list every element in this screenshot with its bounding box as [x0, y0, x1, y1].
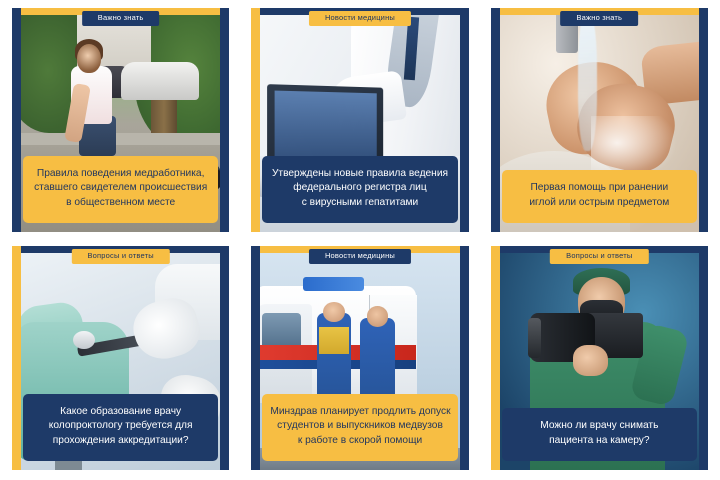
card-3[interactable]: Важно знать Первая помощь при ранении иг… [491, 8, 708, 232]
card-grid: Важно знать Правила поведения медработни… [0, 0, 720, 480]
card-1-caption-line-1: Правила поведения медработника, [31, 167, 210, 182]
card-4[interactable]: Вопросы и ответы Какое образование врачу… [12, 246, 229, 470]
card-2-caption[interactable]: Утверждены новые правила ведения федерал… [262, 156, 457, 223]
card-2-caption-line-3: с вирусными гепатитами [270, 196, 449, 211]
card-2-caption-line-1: Утверждены новые правила ведения [270, 167, 449, 182]
card-3-caption[interactable]: Первая помощь при ранении иглой или остр… [502, 170, 697, 223]
card-4-caption-line-1: Какое образование врачу [31, 405, 210, 420]
card-1-accent-left [12, 8, 21, 232]
card-4-accent-left [12, 246, 21, 470]
card-4-category-badge[interactable]: Вопросы и ответы [71, 249, 169, 264]
card-2-caption-line-2: федерального регистра лиц [270, 181, 449, 196]
card-5-category-badge[interactable]: Новости медицины [309, 249, 411, 264]
card-6-category-badge[interactable]: Вопросы и ответы [550, 249, 648, 264]
card-2-accent-left [251, 8, 260, 232]
card-2[interactable]: Новости медицины Утверждены новые правил… [251, 8, 468, 232]
card-1-caption-line-2: ставшего свидетелем происшествия [31, 181, 210, 196]
card-6[interactable]: Вопросы и ответы Можно ли врачу снимать … [491, 246, 708, 470]
card-6-accent-left [491, 246, 500, 470]
card-5-caption[interactable]: Минздрав планирует продлить допуск студе… [262, 394, 457, 461]
card-6-caption-line-1: Можно ли врачу снимать [510, 419, 689, 434]
card-6-accent-right [699, 246, 708, 470]
card-1-accent-right [220, 8, 229, 232]
card-4-accent-right [220, 246, 229, 470]
card-5-accent-right [460, 246, 469, 470]
card-1-category-badge[interactable]: Важно знать [82, 11, 160, 26]
card-3-caption-line-1: Первая помощь при ранении [510, 181, 689, 196]
card-2-category-badge[interactable]: Новости медицины [309, 11, 411, 26]
card-5-caption-line-1: Минздрав планирует продлить допуск [270, 405, 449, 420]
card-3-category-badge[interactable]: Важно знать [560, 11, 638, 26]
card-3-accent-right [699, 8, 708, 232]
card-1-caption-line-3: в общественном месте [31, 196, 210, 211]
card-5-caption-line-3: к работе в скорой помощи [270, 434, 449, 449]
card-4-caption-line-2: колопроктологу требуется для [31, 419, 210, 434]
card-4-caption-line-3: прохождения аккредитации? [31, 434, 210, 449]
card-3-caption-line-2: иглой или острым предметом [510, 196, 689, 211]
card-1[interactable]: Важно знать Правила поведения медработни… [12, 8, 229, 232]
card-3-accent-left [491, 8, 500, 232]
card-5-caption-line-2: студентов и выпускников медвузов [270, 419, 449, 434]
card-2-accent-right [460, 8, 469, 232]
card-5-accent-left [251, 246, 260, 470]
card-5[interactable]: Новости медицины Минздрав планирует прод… [251, 246, 468, 470]
card-6-caption-line-2: пациента на камеру? [510, 434, 689, 449]
card-4-caption[interactable]: Какое образование врачу колопроктологу т… [23, 394, 218, 461]
card-6-caption[interactable]: Можно ли врачу снимать пациента на камер… [502, 408, 697, 461]
card-1-caption[interactable]: Правила поведения медработника, ставшего… [23, 156, 218, 223]
